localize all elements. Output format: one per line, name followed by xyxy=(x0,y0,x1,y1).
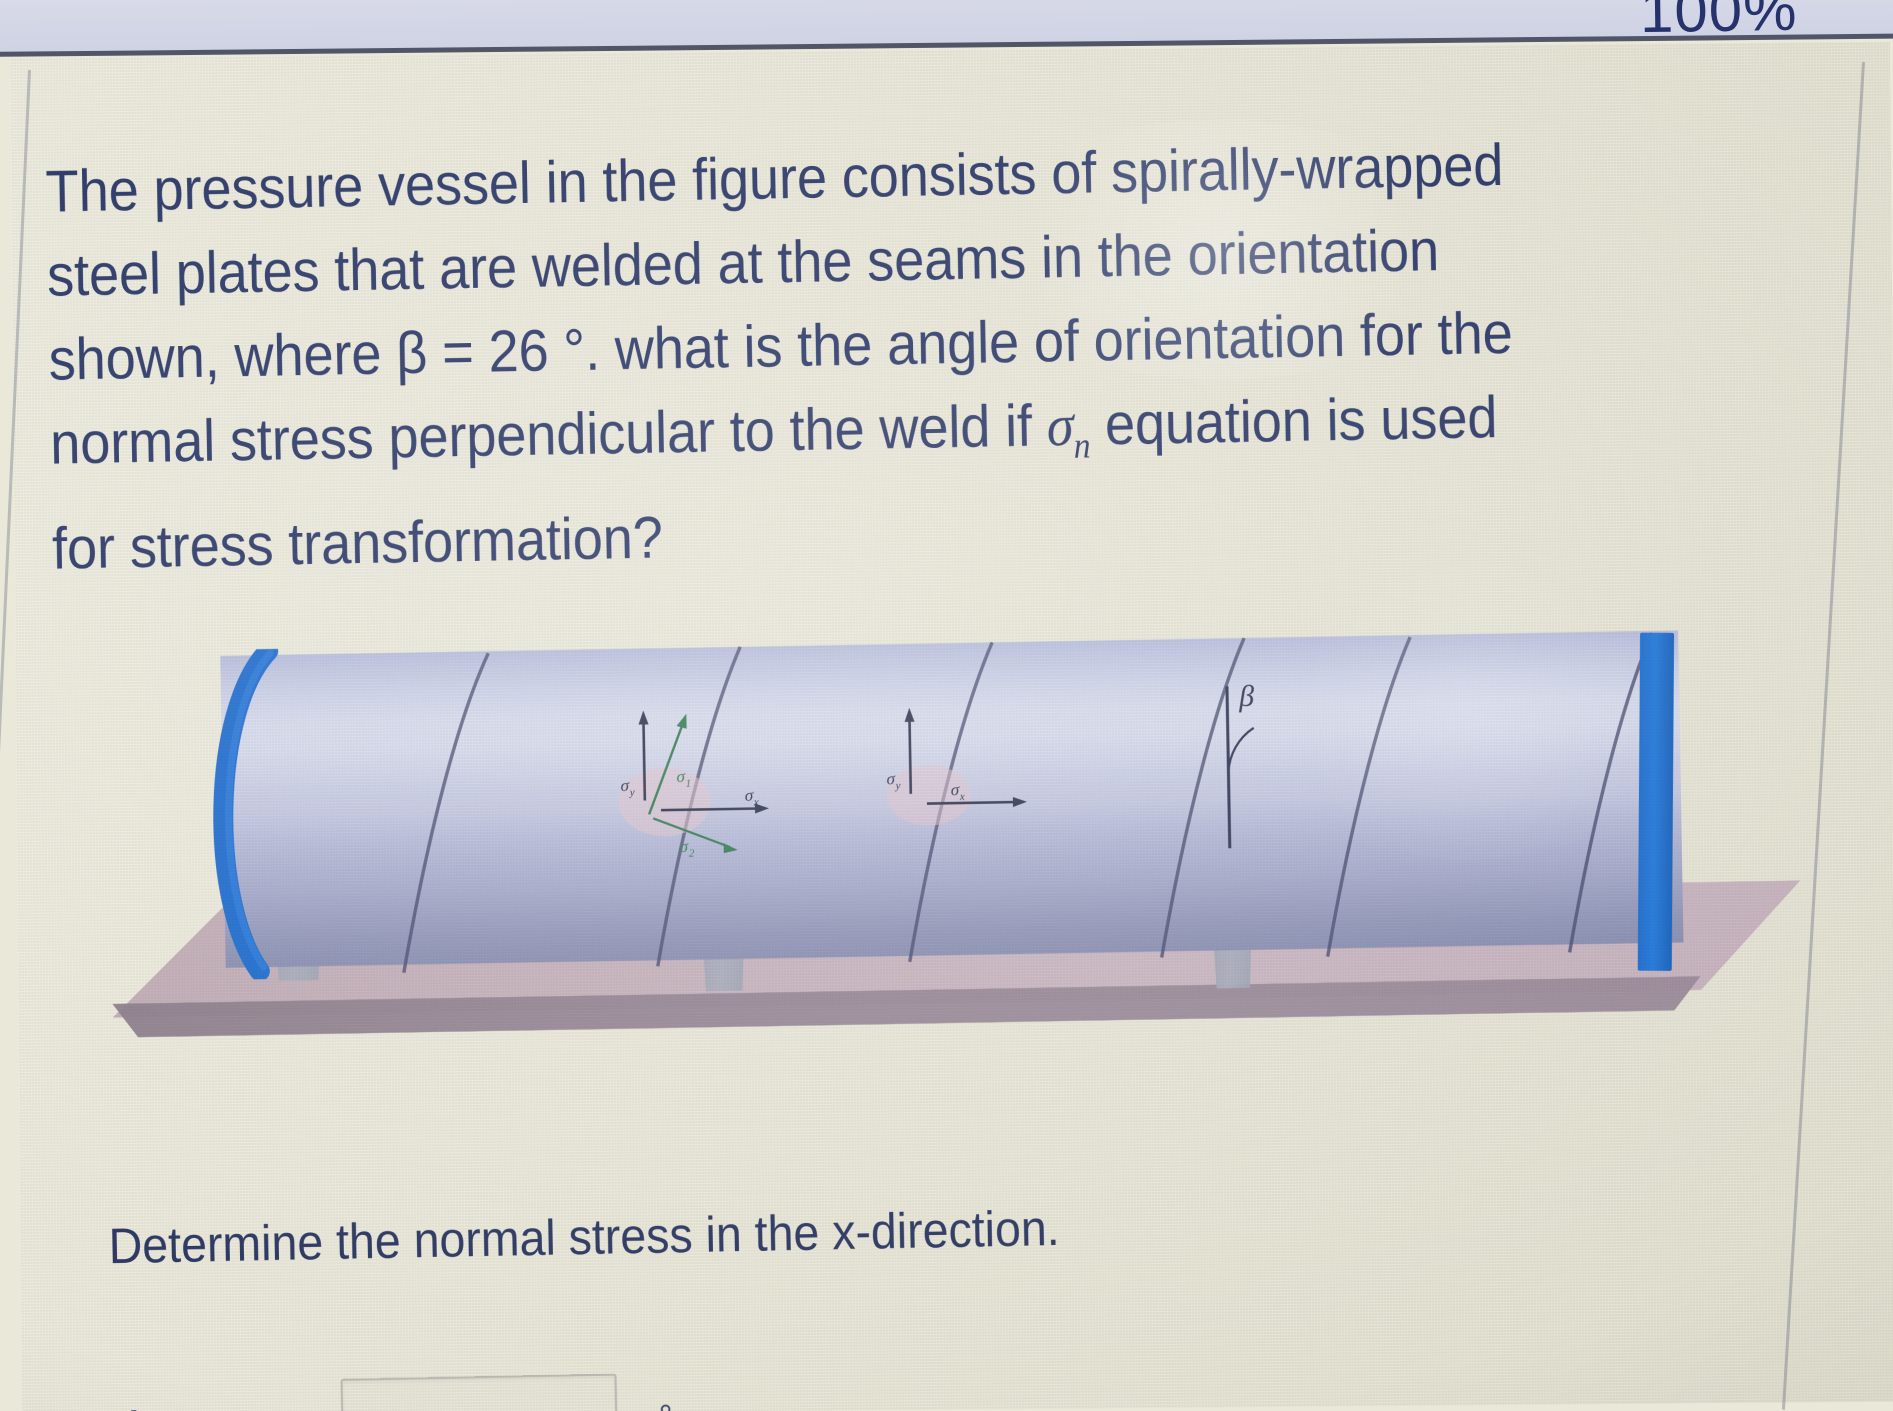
question-line-4-prefix: normal stress perpendicular to the weld … xyxy=(50,392,1048,476)
svg-text:σ: σ xyxy=(680,837,689,856)
question-line-3-suffix: °. what is the angle of orientation for … xyxy=(548,300,1513,384)
stress-element-left: σ y σ 1 σ 2 σ x xyxy=(551,680,814,885)
question-line-3-prefix: shown, where β = xyxy=(48,319,489,393)
svg-text:y: y xyxy=(895,780,901,792)
sub-prompt-text: Determine the normal stress in the x-dir… xyxy=(108,1199,1060,1275)
sigma-n-symbol: σn xyxy=(1046,392,1090,459)
svg-text:2: 2 xyxy=(689,848,695,860)
svg-text:y: y xyxy=(629,787,635,799)
svg-text:x: x xyxy=(959,791,965,803)
svg-text:x: x xyxy=(753,797,759,809)
svg-text:σ: σ xyxy=(886,769,895,788)
weld-seam-1 xyxy=(398,653,494,973)
question-line-4-suffix: equation is used xyxy=(1089,384,1497,457)
screenshot-root: 100% The pressure vessel in the figure c… xyxy=(0,0,1893,1411)
pressure-vessel-figure: σ y σ 1 σ 2 σ x σ y σ x xyxy=(70,622,1818,1132)
sigma-subscript: n xyxy=(1073,424,1090,465)
answer-unit-degree: ° xyxy=(659,1398,673,1411)
answer-input[interactable] xyxy=(340,1374,618,1411)
svg-text:σ: σ xyxy=(745,786,754,805)
answer-row: Answer: ° xyxy=(118,1372,674,1411)
question-text: The pressure vessel in the figure consis… xyxy=(45,119,1709,590)
stress-element-middle: σ y σ x xyxy=(831,675,1074,869)
beta-label: β xyxy=(1238,680,1255,713)
beta-angle-annotation: β xyxy=(1160,650,1384,884)
zoom-level-label: 100% xyxy=(1640,0,1798,46)
svg-text:σ: σ xyxy=(676,767,685,786)
sigma-glyph: σ xyxy=(1046,392,1074,458)
question-page: The pressure vessel in the figure consis… xyxy=(10,42,1893,1411)
end-cap-right xyxy=(1638,633,1674,971)
svg-text:σ: σ xyxy=(951,780,960,799)
svg-text:σ: σ xyxy=(620,776,629,795)
beta-value: 26 xyxy=(488,318,549,385)
svg-text:1: 1 xyxy=(685,778,691,790)
answer-label: Answer: xyxy=(118,1396,287,1411)
